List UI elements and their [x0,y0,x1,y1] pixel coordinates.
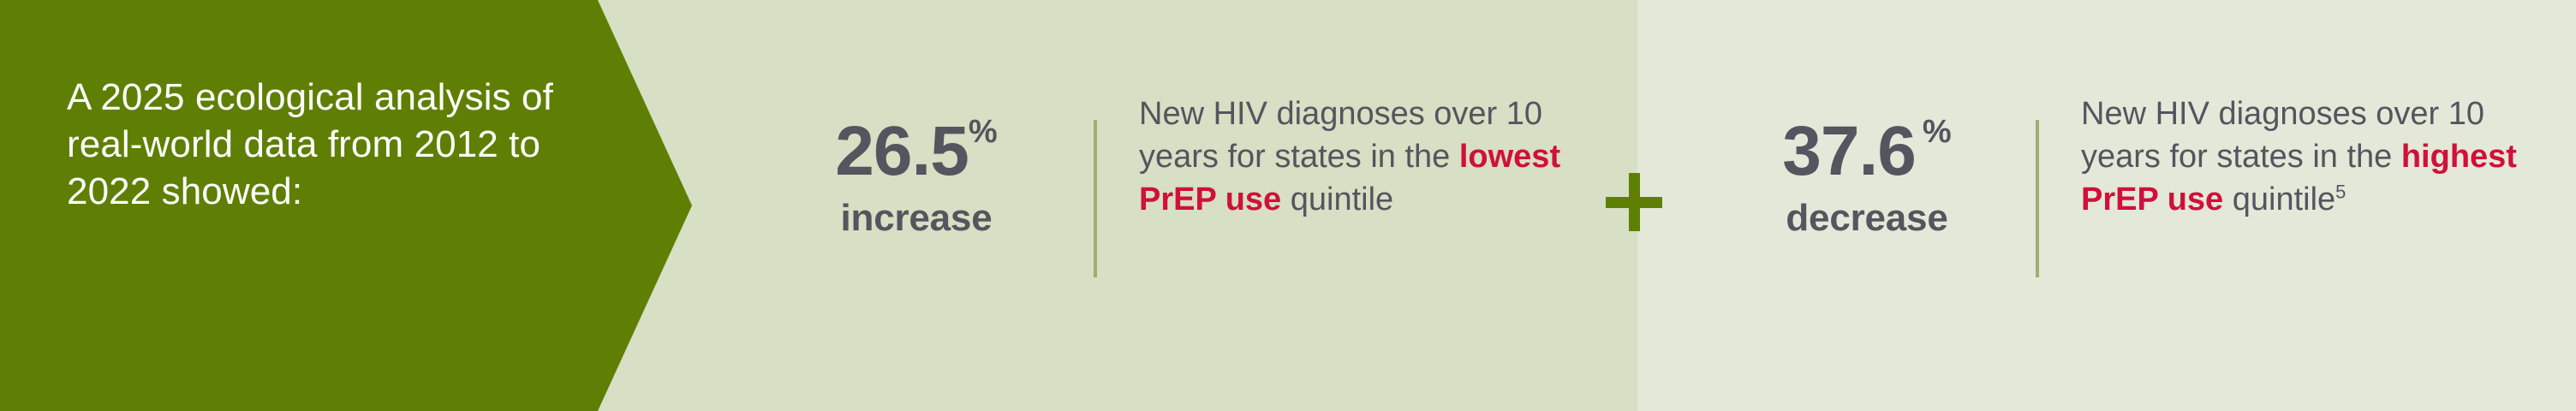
description-suffix: quintile [2223,182,2335,217]
stat-direction-label: increase [745,198,1088,239]
description-suffix: quintile [1281,182,1393,217]
infographic-root: A 2025 ecological analysis of real-world… [0,0,2576,411]
percent-symbol: % [1923,114,1952,150]
banner-text: A 2025 ecological analysis of real-world… [67,74,581,215]
stat-value-line: 37.6% [1696,96,2038,188]
vertical-rule [1094,120,1097,277]
stat-group-highest-prep-use: 37.6% decrease New HIV diagnoses over 10… [1679,0,2576,411]
stat-direction-label: decrease [1696,198,2038,239]
stat-number-block: 37.6% decrease [1696,96,2038,239]
stat-value-line: 26.5% [745,96,1088,188]
percent-symbol: % [969,114,998,150]
stat-value: 37.6 [1782,112,1916,190]
stat-value: 26.5 [835,112,969,190]
stat-number-block: 26.5% increase [745,96,1088,239]
footnote-marker: 5 [2335,181,2346,202]
plus-icon [1606,173,1662,231]
stat-group-lowest-prep-use: 26.5% increase New HIV diagnoses over 10… [736,0,1627,411]
arrow-banner: A 2025 ecological analysis of real-world… [0,0,695,411]
vertical-rule [2036,120,2039,277]
stat-description: New HIV diagnoses over 10 years for stat… [2081,92,2561,221]
plus-icon-vertical-bar [1629,173,1640,231]
stat-description: New HIV diagnoses over 10 years for stat… [1139,92,1619,221]
